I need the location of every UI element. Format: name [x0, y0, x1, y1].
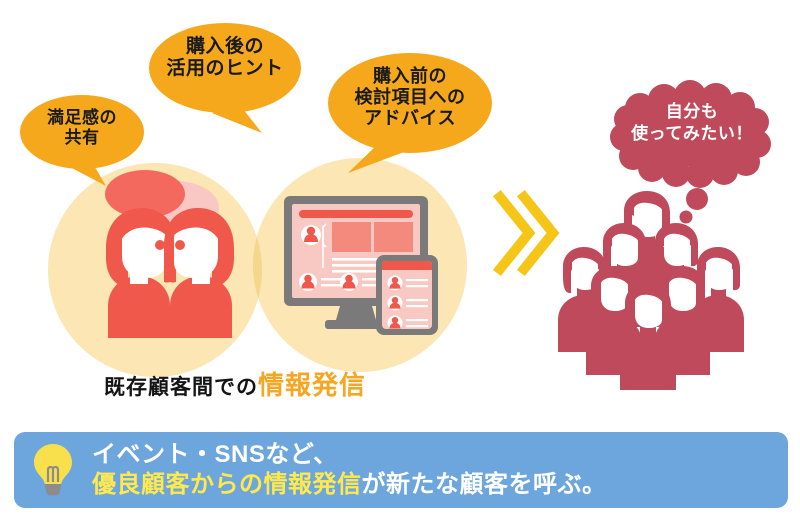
person-right-icon	[164, 208, 234, 338]
caption-plain-text: 既存顧客間での	[104, 376, 258, 399]
double-chevron-right-icon	[500, 197, 553, 269]
scene-caption: 既存顧客間での情報発信	[0, 372, 470, 398]
summary-banner[interactable]: イベント・SNSなど、 優良顧客からの情報発信が新たな顧客を呼ぶ。	[14, 432, 788, 508]
new-customers-crowd	[558, 191, 744, 390]
banner-message: イベント・SNSなど、 優良顧客からの情報発信が新たな顧客を呼ぶ。	[92, 440, 607, 500]
monitor-stand	[336, 306, 376, 320]
banner-line-2: 優良顧客からの情報発信が新たな顧客を呼ぶ。	[92, 470, 607, 500]
speech-bubble-pre-purchase-advice	[328, 53, 492, 173]
banner-highlight-text: 優良顧客からの情報発信	[92, 471, 362, 498]
thought-dot-large	[686, 188, 708, 210]
banner-rest-text: が新たな顧客を呼ぶ。	[362, 471, 607, 498]
banner-line-1: イベント・SNSなど、	[92, 440, 607, 470]
thought-dot-small	[680, 211, 693, 224]
screen-avatar-main	[301, 225, 321, 245]
speech-bubble-post-purchase-tips	[149, 23, 301, 133]
caption-accent-text: 情報発信	[258, 370, 366, 400]
lightbulb-icon	[14, 442, 92, 498]
